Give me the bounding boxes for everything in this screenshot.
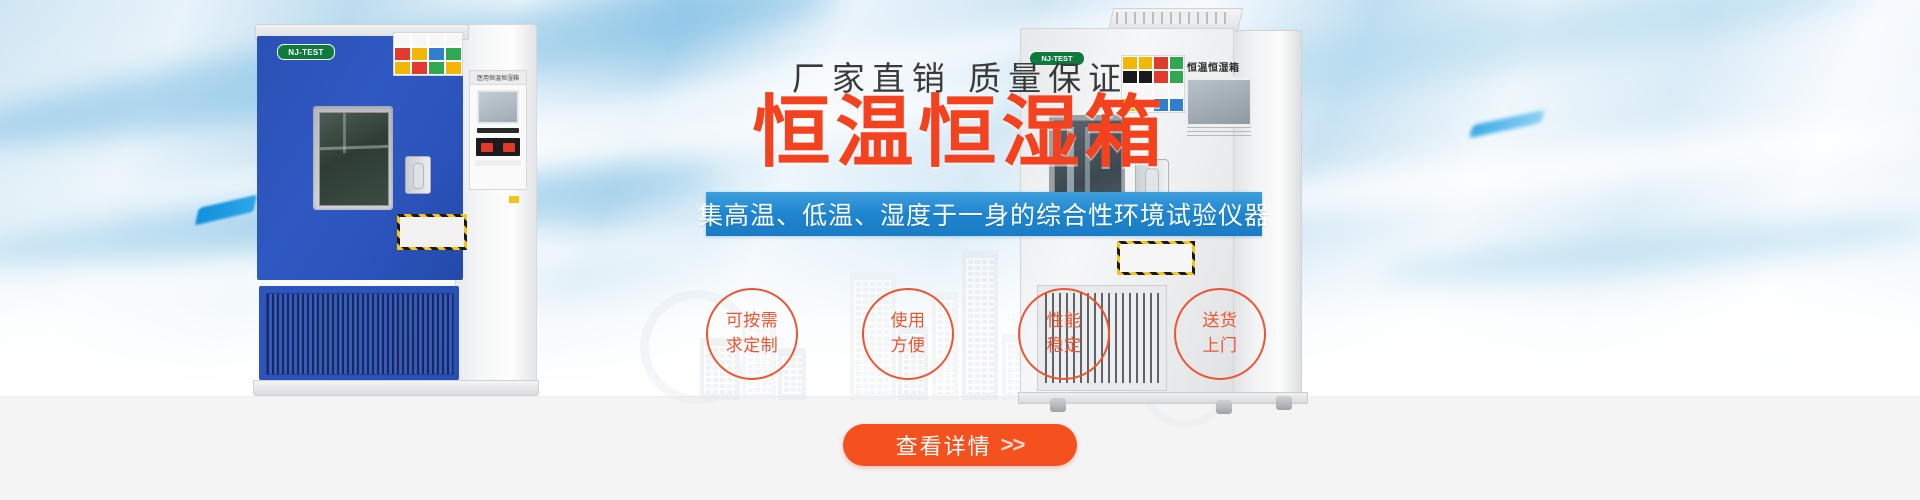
subtitle-text: 集高温、低温、湿度于一身的综合性环境试验仪器: [698, 196, 1270, 232]
left-unit-vent-grille: [259, 286, 459, 380]
left-unit-warning-decal: [393, 32, 463, 76]
badge-line-2: 方便: [891, 334, 926, 359]
banner-copy: 厂家直销 质量保证 恒温恒湿箱 集高温、低温、湿度于一身的综合性环境试验仪器 可…: [560, 0, 1360, 500]
product-banner: NJ-TEST 医用恒温恒湿箱: [0, 0, 1920, 500]
feature-badge-stable[interactable]: 性能 稳定: [1018, 288, 1110, 380]
product-image-left: NJ-TEST 医用恒温恒湿箱: [255, 24, 535, 396]
blue-accent-dart-icon: [195, 195, 257, 226]
control-panel-title: 医用恒温恒湿箱: [470, 71, 526, 85]
brand-logo: NJ-TEST: [277, 44, 335, 60]
control-panel-footer: [475, 160, 521, 166]
badge-line-1: 性能: [1047, 309, 1082, 334]
left-unit-control-panel: 医用恒温恒湿箱: [469, 70, 527, 190]
feature-badge-custom[interactable]: 可按需 求定制: [706, 288, 798, 380]
badge-line-2: 求定制: [726, 334, 779, 359]
badge-line-2: 稳定: [1047, 334, 1082, 359]
feature-badge-list: 可按需 求定制 使用 方便 性能 稳定 送货 上门: [706, 282, 1266, 386]
blue-accent-dart-icon: [1469, 110, 1544, 138]
control-panel-screen: [477, 90, 519, 124]
cta-label: 查看详情: [896, 429, 992, 461]
cloud-streak: [1379, 206, 1920, 295]
feature-badge-easy-use[interactable]: 使用 方便: [862, 288, 954, 380]
left-unit-door-handle: [405, 156, 431, 194]
badge-line-1: 送货: [1203, 309, 1238, 334]
chevron-right-icon: >>: [1001, 432, 1025, 458]
badge-line-1: 使用: [891, 309, 926, 334]
control-panel-strip: [477, 128, 519, 133]
headline-title: 恒温恒湿箱: [560, 92, 1360, 174]
viewport-glass: [319, 112, 389, 206]
yellow-sticker: [509, 196, 519, 203]
view-details-button[interactable]: 查看详情 >>: [843, 424, 1077, 466]
badge-line-1: 可按需: [726, 309, 779, 334]
feature-badge-delivery[interactable]: 送货 上门: [1174, 288, 1266, 380]
left-unit-hazard-plate: [397, 214, 467, 250]
subtitle-bar: 集高温、低温、湿度于一身的综合性环境试验仪器: [706, 192, 1262, 236]
badge-line-2: 上门: [1203, 334, 1238, 359]
left-unit-base: [253, 380, 539, 396]
control-panel-indicators: [476, 138, 520, 156]
left-unit-viewport: [313, 106, 393, 210]
